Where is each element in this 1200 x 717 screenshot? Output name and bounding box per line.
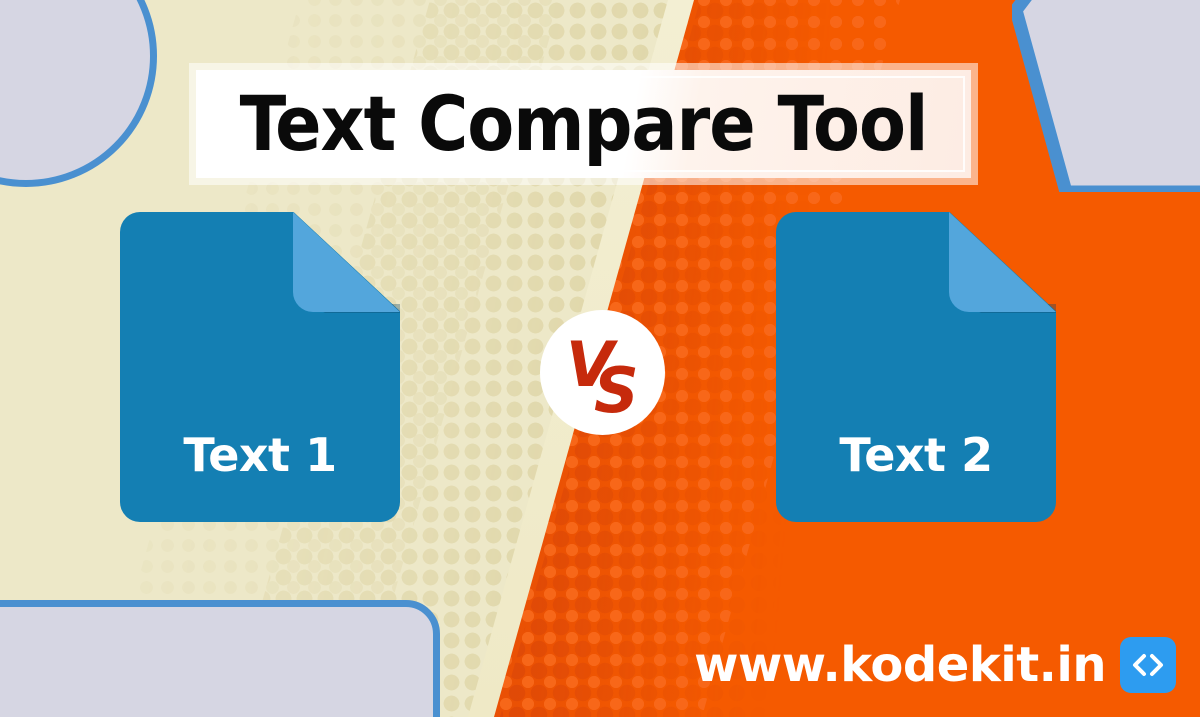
document-card-text-2[interactable]: Text 2 xyxy=(776,212,1056,522)
footer-branding[interactable]: www.kodekit.in xyxy=(694,637,1176,693)
page-title: Text Compare Tool xyxy=(240,86,928,162)
document-label-text-2: Text 2 xyxy=(776,432,1056,478)
document-card-text-1[interactable]: Text 1 xyxy=(120,212,400,522)
decoration-rounded-rect-bottom-left xyxy=(0,600,440,717)
code-brackets-icon[interactable] xyxy=(1120,637,1176,693)
title-banner: Text Compare Tool xyxy=(196,70,971,178)
website-url[interactable]: www.kodekit.in xyxy=(694,641,1106,689)
versus-letter-s: S xyxy=(594,354,639,427)
versus-badge-icon: V S xyxy=(540,310,665,435)
poster-canvas: Text Compare Tool Text 1 Text 2 V S www.… xyxy=(0,0,1200,717)
decoration-pentagon-top-right xyxy=(1012,0,1200,192)
document-folded-corner xyxy=(949,212,1056,312)
document-label-text-1: Text 1 xyxy=(120,432,400,478)
